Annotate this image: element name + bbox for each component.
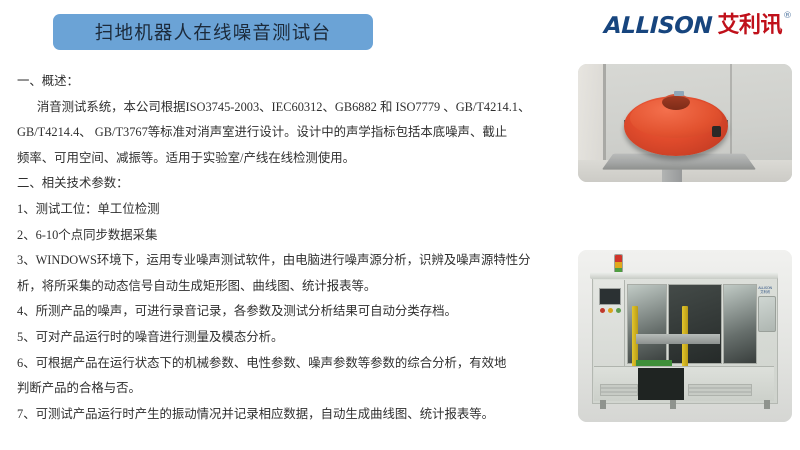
spec-item-7-line-1: 7、可测试产品运行时产生的振动情况并记录相应数据，自动生成曲线图、统计报表等。 [17, 402, 553, 428]
brand-logo: ALLISON 艾利讯 ® [604, 13, 792, 43]
machine-vent-louver-2 [688, 384, 752, 396]
spec-item-3-line-2: 析，将所采集的动态信号自动生成矩形图、曲线图、统计报表等。 [17, 274, 553, 300]
control-button-yellow [608, 308, 613, 313]
hmi-screen [599, 288, 621, 305]
machine-window-center [668, 284, 722, 364]
machine-foot-1 [600, 400, 606, 409]
test-stand-platform [602, 154, 756, 170]
stack-light-red [615, 255, 622, 262]
overview-line-1: 消音测试系统，本公司根据ISO3745-2003、IEC60312、GB6882… [17, 95, 553, 121]
spec-item-3-line-1: 3、WINDOWS环境下，运用专业噪声测试软件，由电脑进行噪声源分析，识辨及噪声… [17, 248, 553, 274]
spec-item-2-line-1: 2、6-10个点同步数据采集 [17, 223, 553, 249]
section-heading-overview: 一、概述： [17, 69, 553, 95]
machine-brand-badge: ALLISON 艾利讯 [758, 286, 772, 294]
machine-foot-2 [670, 400, 676, 409]
stack-light-yellow [615, 262, 622, 269]
spec-item-5-line-1: 5、可对产品运行时的噪音进行测量及模态分析。 [17, 325, 553, 351]
title-banner: 扫地机器人在线噪音测试台 [53, 14, 373, 50]
section-heading-specs: 二、相关技术参数： [17, 171, 553, 197]
spec-item-4-line-1: 4、所测产品的噪声，可进行录音记录，各参数及测试分析结果可自动分类存档。 [17, 299, 553, 325]
spec-item-6-line-1: 6、可根据产品在运行状态下的机械参数、电性参数、噪声参数等参数的综合分析，有效地 [17, 351, 553, 377]
emergency-stop-button [600, 308, 605, 313]
machine-foot-3 [764, 400, 770, 409]
content-column: 一、概述： 消音测试系统，本公司根据ISO3745-2003、IEC60312、… [17, 69, 553, 427]
robot-lidar-turret [662, 94, 690, 110]
control-button-green [616, 308, 621, 313]
photo-noise-test-machine: ALLISON 艾利讯 [578, 250, 792, 422]
spec-item-1-line-1: 1、测试工位：单工位检测 [17, 197, 553, 223]
brand-name-latin: ALLISON [604, 13, 713, 39]
photo-robot-vacuum-on-test-stand [578, 64, 792, 182]
machine-vent-louver-1 [600, 384, 638, 396]
page-title: 扫地机器人在线噪音测试台 [95, 19, 331, 45]
overview-line-3: 频率、可用空间、减振等。适用于实验室/产线在线检测使用。 [17, 146, 553, 172]
internal-conveyor-rail [636, 334, 720, 344]
robot-side-sensor [712, 126, 721, 137]
machine-open-bay [638, 368, 684, 400]
machine-side-window [758, 296, 776, 332]
machine-top-frame [590, 272, 778, 279]
brand-name-chinese: 艾利讯 [717, 13, 782, 39]
machine-badge-line-2: 艾利讯 [758, 290, 772, 294]
robot-badge-label [674, 91, 684, 96]
spec-item-6-line-2: 判断产品的合格与否。 [17, 376, 553, 402]
overview-line-2: GB/T4214.4、 GB/T3767等标准对消声室进行设计。设计中的声学指标… [17, 120, 553, 146]
page-header: 扫地机器人在线噪音测试台 ALLISON 艾利讯 ® [0, 0, 800, 62]
registered-trademark-icon: ® [783, 11, 792, 21]
machine-window-right [723, 284, 757, 364]
